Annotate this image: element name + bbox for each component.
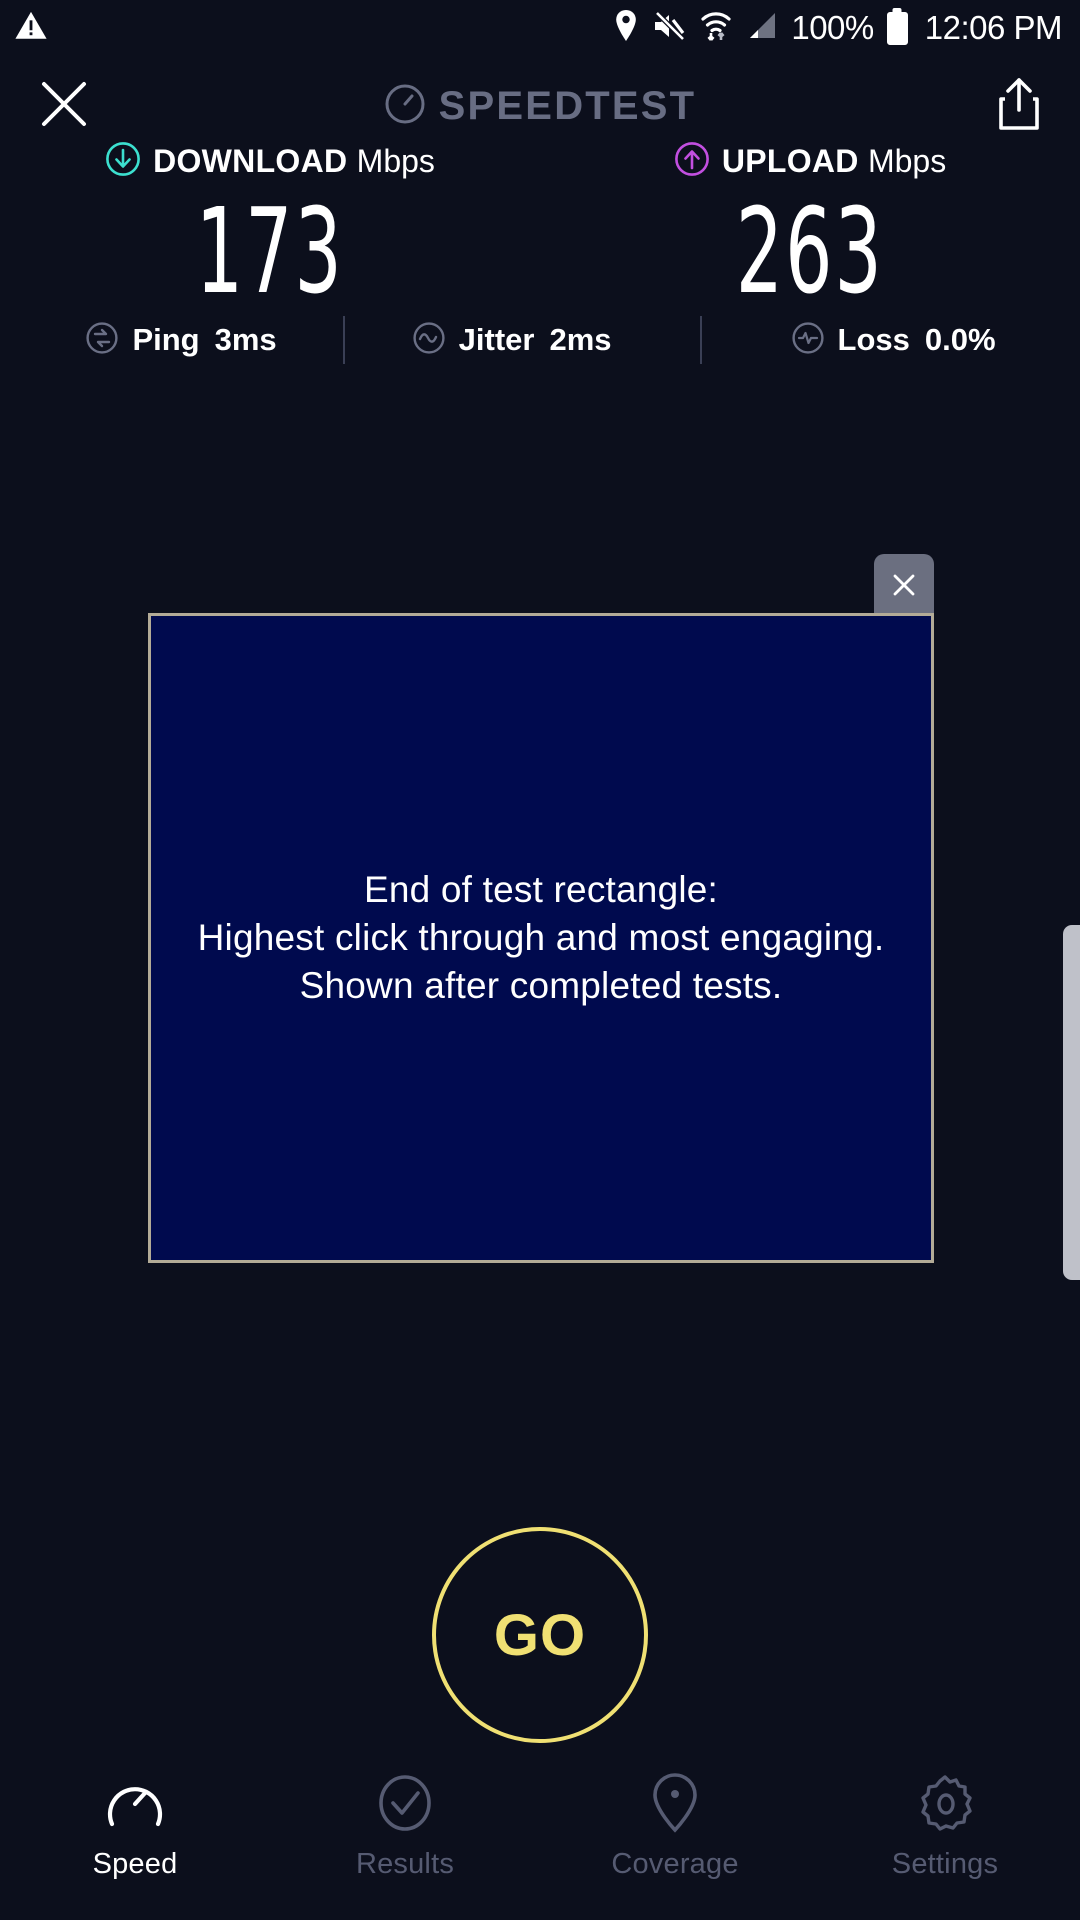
metric-loss-label: Loss [838, 322, 910, 358]
metric-ping-value: 3ms [215, 322, 277, 358]
ad-rectangle[interactable]: End of test rectangle: Highest click thr… [148, 613, 934, 1263]
ad-line-2: Highest click through and most engaging. [198, 914, 885, 962]
clock-label: 12:06 PM [925, 9, 1062, 47]
metric-ping: Ping 3ms [80, 320, 280, 361]
nav-item-coverage[interactable]: Coverage [540, 1752, 810, 1920]
arrow-down-circle-icon [105, 141, 141, 182]
nav-label-speed: Speed [93, 1848, 178, 1881]
upload-header: UPLOAD Mbps [674, 140, 946, 182]
ad-line-3: Shown after completed tests. [198, 962, 885, 1010]
speed-results: DOWNLOAD Mbps 173 UPLOAD Mbps 263 [0, 140, 1080, 310]
ad-line-1: End of test rectangle: [198, 866, 885, 914]
gear-icon [915, 1772, 975, 1834]
metric-loss: Loss 0.0% [786, 320, 1000, 361]
metric-jitter-value: 2ms [549, 322, 611, 358]
upload-result: UPLOAD Mbps 263 [540, 140, 1080, 310]
go-button[interactable]: GO [432, 1527, 648, 1743]
ping-icon [84, 320, 120, 361]
app-title-group: SPEEDTEST [0, 83, 1080, 130]
network-metrics: Ping 3ms Jitter 2ms Loss 0.0% [0, 305, 1080, 375]
arrow-up-circle-icon [674, 141, 710, 182]
download-header: DOWNLOAD Mbps [105, 140, 435, 182]
nav-item-speed[interactable]: Speed [0, 1752, 270, 1920]
metric-divider-2 [700, 316, 702, 364]
metric-ping-label: Ping [132, 322, 199, 358]
status-bar-right: 100% 12:06 PM [613, 9, 1062, 48]
share-button[interactable] [994, 76, 1044, 137]
location-pin-icon [650, 1772, 700, 1834]
advertisement[interactable]: End of test rectangle: Highest click thr… [148, 613, 934, 1263]
wifi-transfer-icon [699, 9, 733, 48]
page-title: SPEEDTEST [439, 84, 697, 129]
upload-label: UPLOAD Mbps [722, 143, 946, 180]
speed-results-row: DOWNLOAD Mbps 173 UPLOAD Mbps 263 [0, 140, 1080, 310]
ad-text: End of test rectangle: Highest click thr… [198, 866, 885, 1010]
speed-gauge-icon [104, 1772, 166, 1834]
download-label: DOWNLOAD Mbps [153, 143, 435, 180]
metric-loss-value: 0.0% [925, 322, 996, 358]
nav-label-coverage: Coverage [611, 1848, 738, 1881]
battery-percent-label: 100% [791, 9, 873, 47]
download-result: DOWNLOAD Mbps 173 [0, 140, 540, 310]
metric-divider-1 [343, 316, 345, 364]
jitter-icon [411, 320, 447, 361]
metric-jitter-label: Jitter [459, 322, 535, 358]
bottom-navigation: Speed Results Coverage Settings [0, 1752, 1080, 1920]
nav-label-settings: Settings [892, 1848, 998, 1881]
close-button[interactable] [36, 76, 92, 137]
ad-close-button[interactable] [874, 554, 934, 616]
metric-jitter: Jitter 2ms [407, 320, 616, 361]
status-bar: 100% 12:06 PM [0, 0, 1080, 56]
location-pin-icon [613, 9, 639, 47]
warning-triangle-icon [14, 9, 48, 48]
battery-full-icon [887, 12, 908, 45]
speedtest-gauge-icon [384, 83, 426, 130]
close-icon [887, 568, 921, 602]
nav-label-results: Results [356, 1848, 454, 1881]
go-button-label: GO [494, 1602, 586, 1669]
nav-item-settings[interactable]: Settings [810, 1752, 1080, 1920]
cellular-signal-icon [746, 11, 778, 46]
loss-icon [790, 320, 826, 361]
download-value: 173 [196, 192, 344, 310]
check-circle-icon [376, 1772, 434, 1834]
nav-item-results[interactable]: Results [270, 1752, 540, 1920]
volume-muted-icon [652, 11, 686, 46]
status-bar-left [14, 9, 48, 48]
vertical-scrollbar[interactable] [1063, 925, 1080, 1280]
upload-value: 263 [736, 192, 884, 310]
